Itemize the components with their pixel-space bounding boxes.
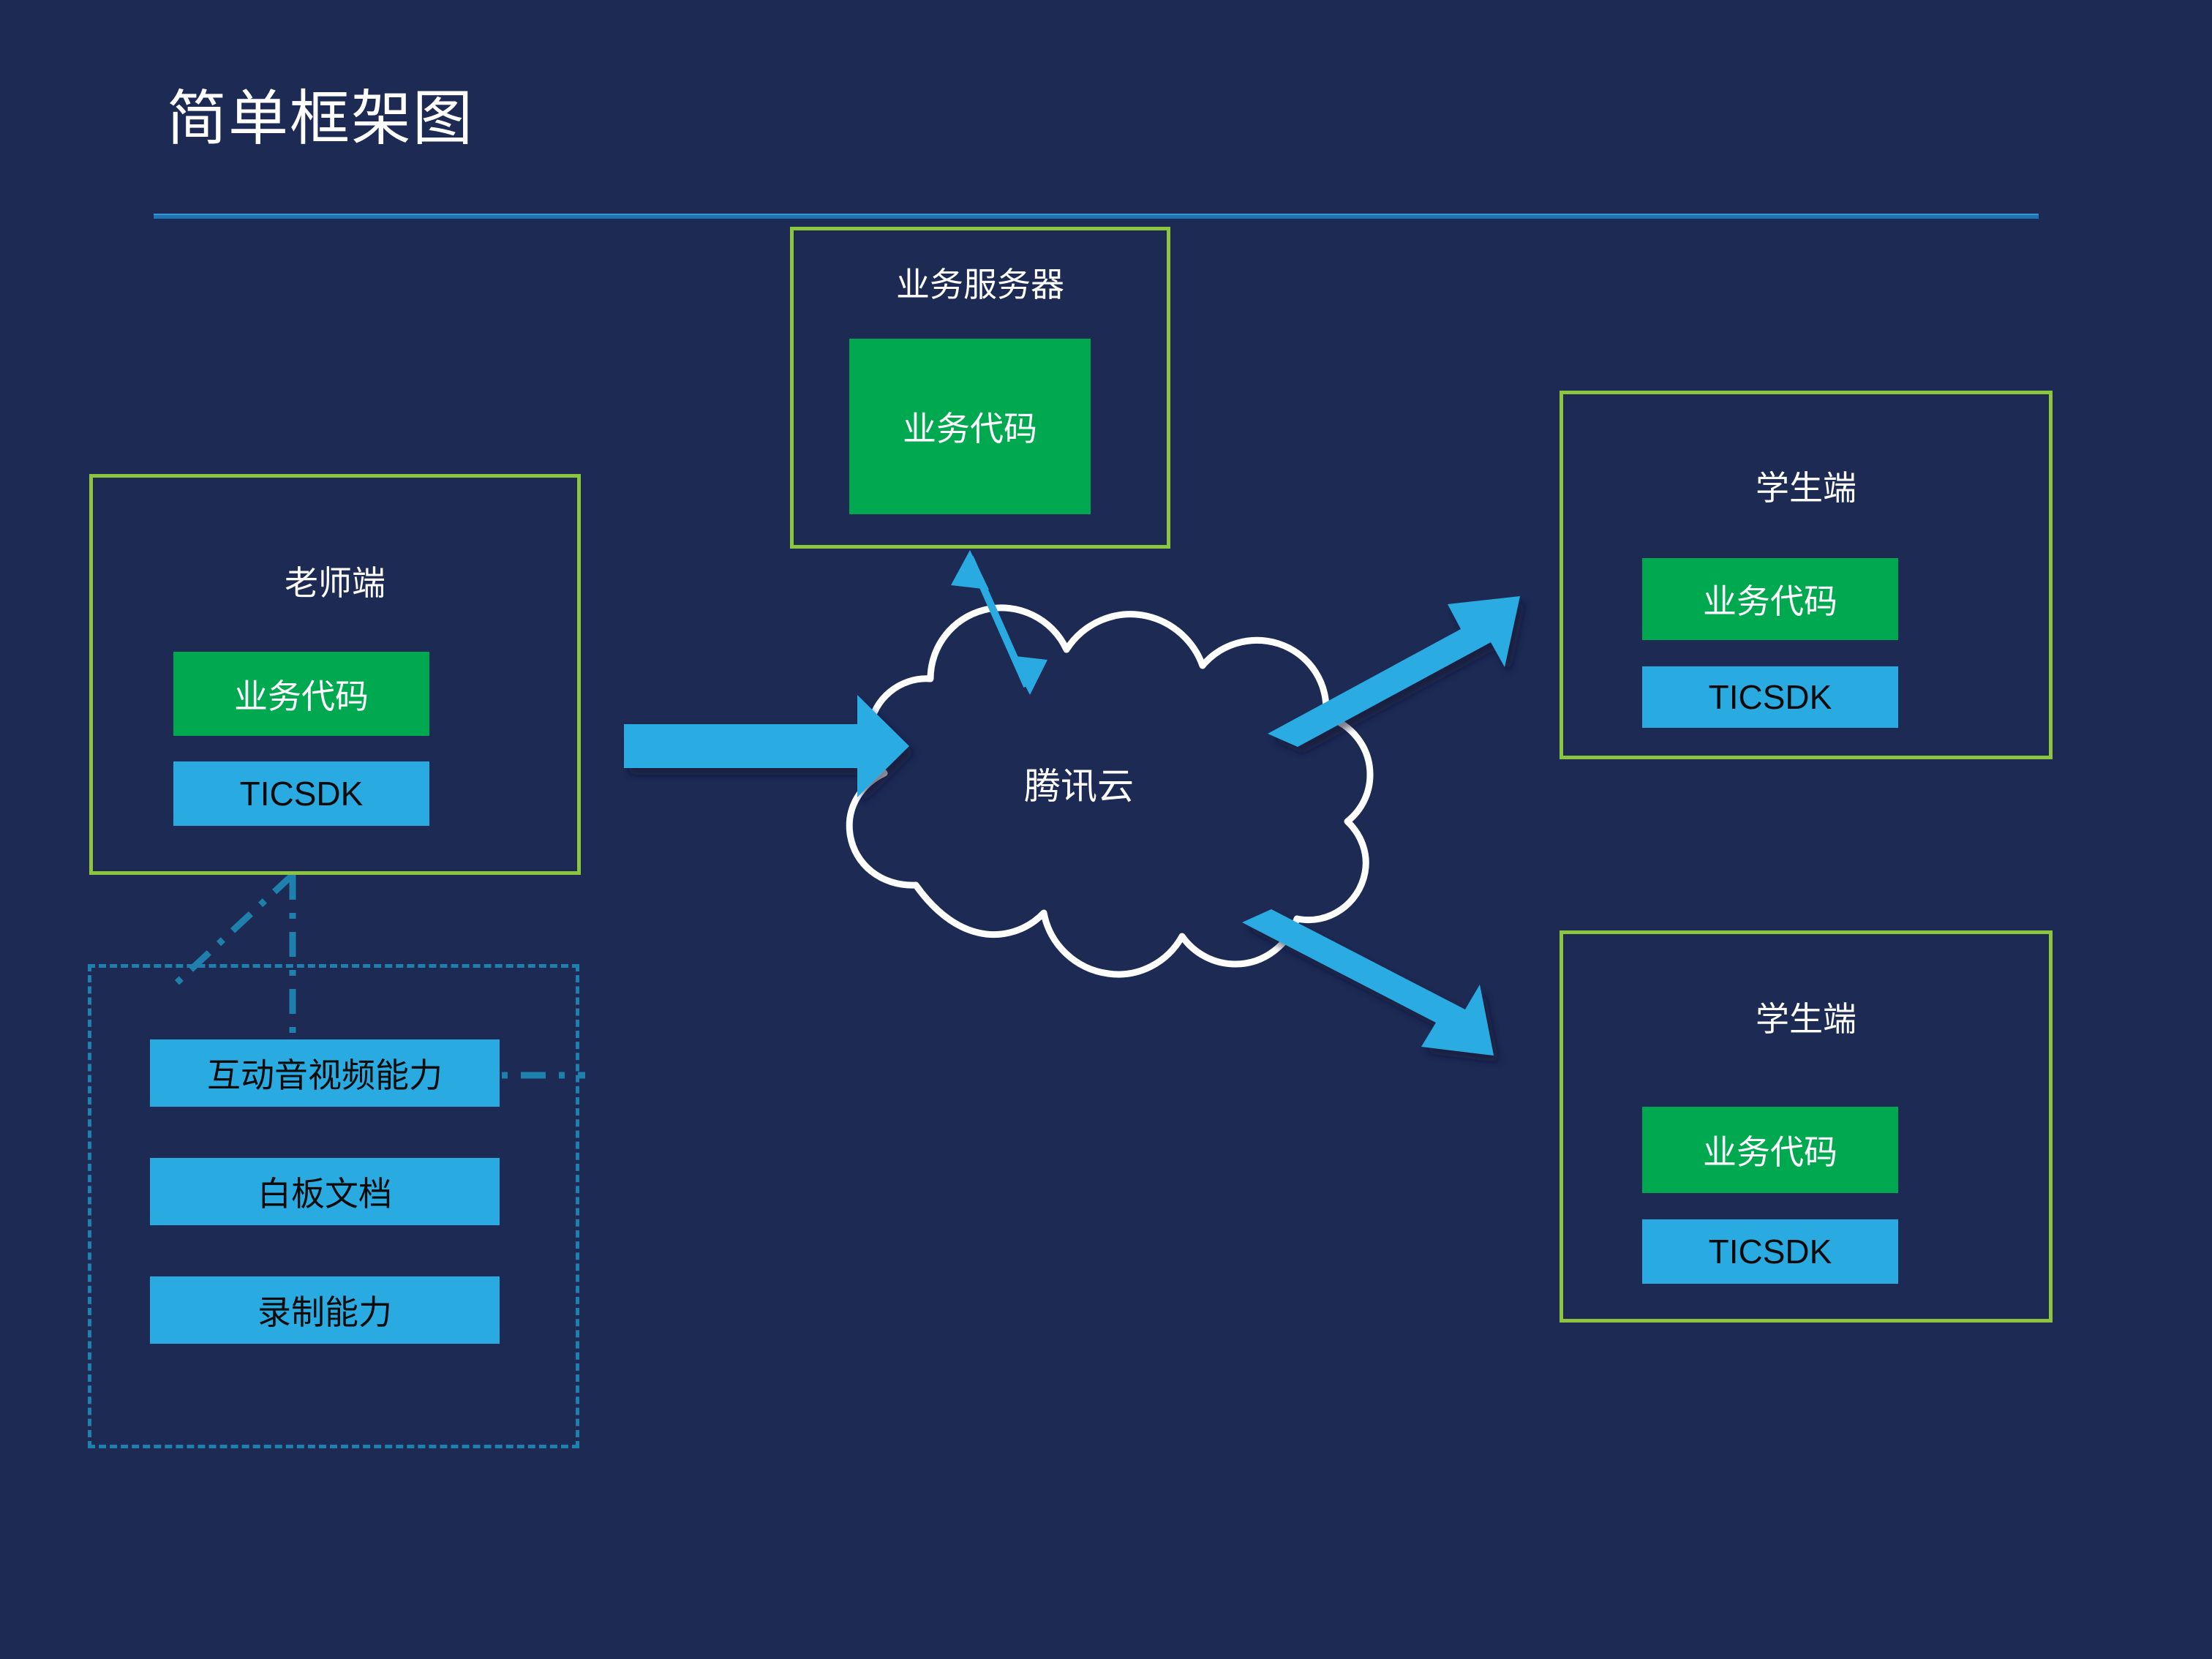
cloud-to-student-bottom-arrow — [1242, 909, 1494, 1056]
chip-business-code-server[interactable]: 业务代码 — [849, 339, 1091, 514]
panel-business-server[interactable]: 业务服务器 业务代码 — [790, 227, 1170, 549]
panel-student-client-bottom-title: 学生端 — [1563, 993, 2049, 1041]
capability-group[interactable]: 互动音视频能力 白板文档 录制能力 — [88, 964, 579, 1448]
panel-student-client-top[interactable]: 学生端 业务代码 TICSDK — [1560, 391, 2053, 759]
chip-business-code-teacher[interactable]: 业务代码 — [173, 652, 429, 736]
chip-ticsdk-student-top[interactable]: TICSDK — [1642, 666, 1898, 728]
title-divider — [154, 214, 2039, 219]
panel-teacher-client[interactable]: 老师端 业务代码 TICSDK — [89, 474, 581, 875]
server-to-cloud-arrow — [951, 550, 1047, 695]
panel-teacher-client-title: 老师端 — [93, 557, 577, 605]
capability-chip-av[interactable]: 互动音视频能力 — [150, 1039, 500, 1107]
panel-business-server-title: 业务服务器 — [794, 258, 1167, 306]
chip-ticsdk-student-bottom[interactable]: TICSDK — [1642, 1219, 1898, 1284]
teacher-to-cloud-arrow — [624, 695, 909, 797]
page-title: 简单框架图 — [167, 86, 474, 152]
cloud-label: 腾讯云 — [962, 757, 1196, 810]
chip-business-code-student-bottom[interactable]: 业务代码 — [1642, 1107, 1898, 1193]
panel-student-client-top-title: 学生端 — [1563, 462, 2049, 510]
capability-chip-recording[interactable]: 录制能力 — [150, 1276, 500, 1344]
chip-business-code-student-top[interactable]: 业务代码 — [1642, 558, 1898, 640]
slide-canvas: 简单框架图 — [0, 0, 2212, 1659]
panel-student-client-bottom[interactable]: 学生端 业务代码 TICSDK — [1560, 930, 2053, 1323]
cloud-to-student-top-arrow — [1268, 596, 1520, 747]
capability-chip-whiteboard[interactable]: 白板文档 — [150, 1158, 500, 1225]
chip-ticsdk-teacher[interactable]: TICSDK — [173, 761, 429, 826]
